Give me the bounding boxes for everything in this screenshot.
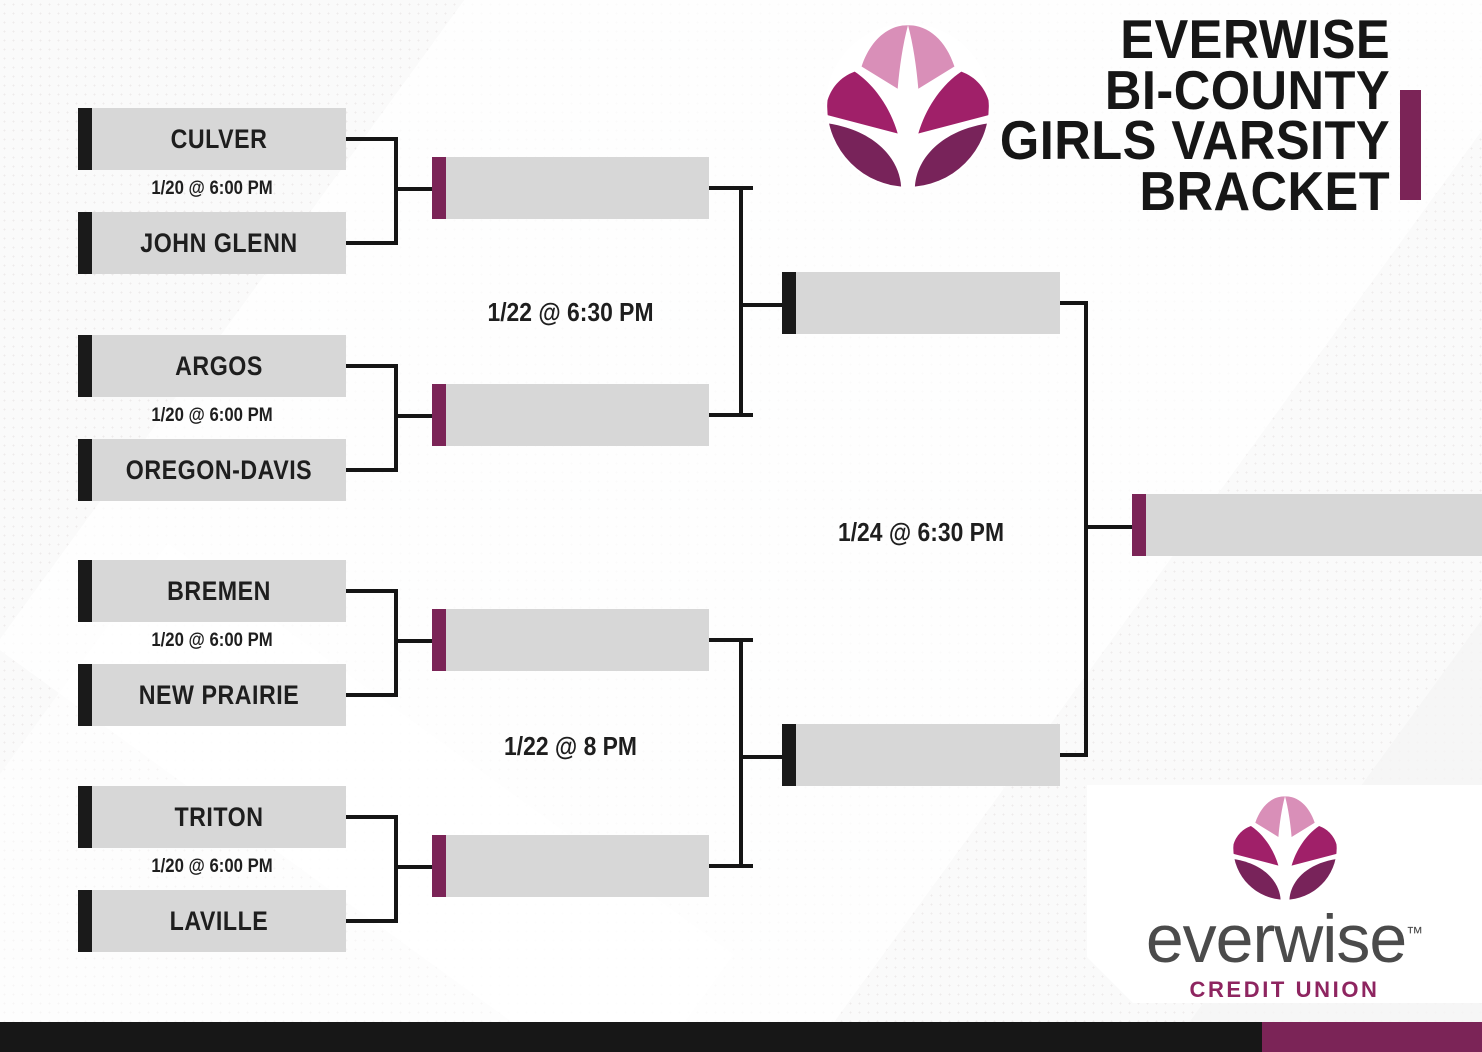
page-title: EVERWISE BI-COUNTY GIRLS VARSITY BRACKET — [966, 14, 1390, 216]
seed-bremen[interactable]: BREMEN — [78, 560, 346, 622]
sponsor-subtitle: CREDIT UNION — [1189, 977, 1379, 1003]
connector-r1-m2-out — [394, 414, 434, 418]
connector-r1-m3-join — [394, 589, 398, 697]
connector-r1-m3-top — [346, 589, 398, 593]
connector-r1-m3-bottom — [346, 693, 398, 697]
round2-slot-1[interactable] — [432, 157, 709, 219]
seed-new-prairie[interactable]: NEW PRAIRIE — [78, 664, 346, 726]
seed-label: TRITON — [110, 786, 328, 848]
seed-accent-bar — [78, 108, 92, 170]
connector-r1-m4-bottom — [346, 919, 398, 923]
slot-accent-bar — [782, 724, 796, 786]
connector-r2-top-join — [739, 186, 743, 417]
connector-r1-m4-out — [394, 865, 434, 869]
sponsor-wordmark: everwise™ — [1146, 905, 1423, 973]
round2-slot-3[interactable] — [432, 609, 709, 671]
seed-culver[interactable]: CULVER — [78, 108, 346, 170]
match-time-r1-m2: 1/20 @ 6:00 PM — [94, 405, 330, 427]
slot-label — [464, 609, 690, 671]
seed-label: LAVILLE — [110, 890, 328, 952]
seed-accent-bar — [78, 786, 92, 848]
round-time-r2-top: 1/22 @ 6:30 PM — [449, 297, 693, 328]
seed-laville[interactable]: LAVILLE — [78, 890, 346, 952]
match-time-r1-m3: 1/20 @ 6:00 PM — [94, 630, 330, 652]
footer-bar — [0, 1022, 1482, 1052]
sponsor-wordmark-text: everwise — [1146, 901, 1406, 977]
round2-slot-4[interactable] — [432, 835, 709, 897]
seed-accent-bar — [78, 335, 92, 397]
bracket-poster: EVERWISE BI-COUNTY GIRLS VARSITY BRACKET… — [0, 0, 1482, 1052]
seed-accent-bar — [78, 560, 92, 622]
footer-bar-black — [0, 1022, 1262, 1052]
connector-r2-bottom-lower — [709, 864, 753, 868]
round2-slot-2[interactable] — [432, 384, 709, 446]
connector-r2-bottom-join — [739, 638, 743, 868]
seed-accent-bar — [78, 664, 92, 726]
connector-r1-m2-top — [346, 364, 398, 368]
semifinal-slot-1[interactable] — [782, 272, 1060, 334]
sponsor-logo-card: everwise™ CREDIT UNION — [1087, 785, 1482, 1003]
round-time-r2-bottom: 1/22 @ 8 PM — [449, 731, 693, 762]
slot-accent-bar — [432, 835, 446, 897]
connector-r1-m1-out — [394, 187, 434, 191]
slot-label — [1170, 494, 1459, 556]
seed-label: BREMEN — [110, 560, 328, 622]
slot-accent-bar — [432, 609, 446, 671]
everwise-fan-circle-logo-icon — [1225, 793, 1345, 903]
seed-label: CULVER — [110, 108, 328, 170]
seed-triton[interactable]: TRITON — [78, 786, 346, 848]
title-accent-bar — [1400, 90, 1421, 200]
seed-accent-bar — [78, 890, 92, 952]
connector-r2-top-out — [739, 303, 784, 307]
connector-semi-out — [1084, 525, 1134, 529]
seed-accent-bar — [78, 439, 92, 501]
slot-accent-bar — [1132, 494, 1146, 556]
connector-r1-m1-join — [394, 137, 398, 245]
seed-label: OREGON-DAVIS — [110, 439, 328, 501]
slot-label — [464, 157, 690, 219]
connector-r1-m4-join — [394, 815, 398, 923]
seed-argos[interactable]: ARGOS — [78, 335, 346, 397]
connector-r2-bottom-out — [739, 755, 784, 759]
connector-r2-bottom-upper — [709, 638, 753, 642]
slot-label — [464, 384, 690, 446]
seed-label: ARGOS — [110, 335, 328, 397]
seed-oregon-davis[interactable]: OREGON-DAVIS — [78, 439, 346, 501]
connector-r1-m4-top — [346, 815, 398, 819]
connector-r2-top-upper — [709, 186, 753, 190]
connector-r1-m1-bottom — [346, 241, 398, 245]
slot-label — [464, 835, 690, 897]
final-slot[interactable] — [1132, 494, 1482, 556]
footer-bar-purple — [1262, 1022, 1482, 1052]
match-time-r1-m4: 1/20 @ 6:00 PM — [94, 856, 330, 878]
title-line-2: BI-COUNTY — [1000, 65, 1390, 116]
title-line-3: GIRLS VARSITY — [1000, 115, 1390, 166]
slot-accent-bar — [432, 157, 446, 219]
slot-label — [814, 272, 1041, 334]
connector-r1-m2-join — [394, 364, 398, 472]
match-time-r1-m1: 1/20 @ 6:00 PM — [94, 178, 330, 200]
connector-r2-top-lower — [709, 413, 753, 417]
slot-accent-bar — [432, 384, 446, 446]
title-line-4: BRACKET — [1000, 166, 1390, 217]
connector-r1-m3-out — [394, 639, 434, 643]
seed-john-glenn[interactable]: JOHN GLENN — [78, 212, 346, 274]
semifinal-slot-2[interactable] — [782, 724, 1060, 786]
connector-r1-m1-top — [346, 137, 398, 141]
connector-semi-join — [1084, 301, 1088, 757]
slot-accent-bar — [782, 272, 796, 334]
seed-accent-bar — [78, 212, 92, 274]
seed-label: JOHN GLENN — [110, 212, 328, 274]
seed-label: NEW PRAIRIE — [110, 664, 328, 726]
connector-r1-m2-bottom — [346, 468, 398, 472]
round-time-semifinal: 1/24 @ 6:30 PM — [799, 517, 1044, 548]
title-line-1: EVERWISE — [1000, 14, 1390, 65]
slot-label — [814, 724, 1041, 786]
trademark-symbol: ™ — [1406, 923, 1423, 942]
